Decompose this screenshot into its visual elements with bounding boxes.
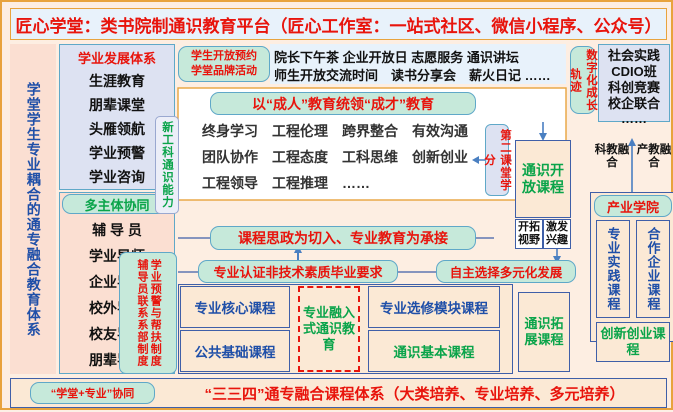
student-booking-line1: 学生开放预约 — [191, 49, 257, 64]
cooperative-enterprise-course[interactable]: 合作企业课程 — [636, 220, 670, 318]
mentor-item-0[interactable]: 辅 导 员 — [62, 217, 172, 242]
mentor-rules-box: 辅导员联系系部制度 学业预警与帮扶制度 — [119, 252, 177, 374]
core-banner: 以“成人”教育统领“成才”教育 — [210, 92, 476, 115]
framework-spine-label: 学堂学生专业耦合的通专融合教育体系 — [24, 82, 42, 337]
framework-spine: 学堂学生专业耦合的通专融合教育体系 — [10, 44, 56, 374]
student-booking-pill[interactable]: 学生开放预约 学堂品牌活动 — [178, 46, 270, 82]
major-practice-course[interactable]: 专业实践课程 — [596, 220, 630, 318]
industry-education-fusion-label: 产教融合 — [636, 142, 672, 172]
practice-item-0[interactable]: 社会实践 — [598, 47, 670, 62]
curriculum-elective-module[interactable]: 专业选修模块课程 — [368, 286, 500, 328]
second-classroom-credits: 第二课堂学分 — [485, 124, 509, 196]
activity-line-1: 院长下午茶 企业开放日 志愿服务 通识讲坛 — [274, 47, 566, 65]
innovation-entrepreneurship-course[interactable]: 创新创业课程 — [596, 322, 670, 362]
general-open-courses[interactable]: 通识开放课程 — [515, 140, 571, 218]
activity-line-2: 师生开放交流时间 读书分享会 薪火日记 …… — [274, 65, 566, 83]
practice-item-2[interactable]: 科创竞赛 — [598, 79, 670, 94]
spark-interest-label: 激发兴趣 — [543, 219, 571, 249]
diagram-canvas: 匠心学堂：类书院制通识教育平台（匠心工作室：一站式社区、微信小程序、公众号） 学… — [0, 0, 673, 410]
curriculum-core-course[interactable]: 专业核心课程 — [180, 286, 290, 328]
footer-title: “三三四”通专融合课程体系（大类培养、专业培养、多元培养） — [167, 378, 662, 408]
science-education-fusion-label: 科教融合 — [594, 142, 630, 172]
major-practice-course-label: 专业实践课程 — [604, 227, 623, 311]
curriculum-public-basic[interactable]: 公共基础课程 — [180, 330, 290, 372]
cooperative-enterprise-course-label: 合作企业课程 — [644, 227, 663, 311]
accreditation-banner: 专业认证非技术素质毕业要求 — [198, 260, 398, 283]
industry-college-title: 产业学院 — [594, 195, 672, 217]
academic-development-title: 学业发展体系 — [64, 47, 170, 67]
core-competency-line-1: 终身学习 工程伦理 跨界整合 有效沟通 — [202, 120, 478, 142]
page-title: 匠心学堂：类书院制通识教育平台（匠心工作室：一站式社区、微信小程序、公众号） — [10, 8, 667, 40]
ideology-banner: 课程思政为切入、专业教育为承接 — [210, 226, 476, 250]
autonomous-development-banner: 自主选择多元化发展 — [436, 260, 576, 283]
academic-item-1[interactable]: 朋辈课堂 — [64, 94, 170, 116]
broaden-horizon-label: 开拓视野 — [515, 219, 543, 249]
new-engineering-literacy-label: 新工科通识能力 — [159, 121, 175, 209]
footer-synergy-pill: “学堂+专业”协同 — [30, 382, 155, 404]
curriculum-fused-general[interactable]: 专业融入式通识教育 — [298, 286, 360, 372]
practice-item-1[interactable]: CDIO班 — [598, 63, 670, 78]
second-classroom-credits-label: 第二课堂学分 — [481, 125, 513, 195]
core-competency-line-2: 团队协作 工程态度 工科思维 创新创业 — [202, 146, 478, 168]
digital-growth-track: 数字化成长轨迹 — [570, 46, 596, 114]
practice-item-4: …… — [598, 111, 670, 126]
curriculum-general-extension[interactable]: 通识拓展课程 — [518, 292, 570, 372]
student-booking-line2: 学堂品牌活动 — [191, 64, 257, 79]
rule-counselor-department: 辅导员联系系部制度 — [135, 259, 148, 367]
core-competency-line-3: 工程领导 工程推理 …… — [202, 172, 478, 194]
digital-growth-track-label: 数字化成长轨迹 — [567, 47, 599, 113]
curriculum-general-basic[interactable]: 通识基本课程 — [368, 330, 500, 372]
practice-item-3[interactable]: 校企联合 — [598, 95, 670, 110]
rule-academic-warning: 学业预警与帮扶制度 — [148, 259, 161, 367]
new-engineering-literacy: 新工科通识能力 — [155, 116, 179, 214]
academic-item-0[interactable]: 生涯教育 — [64, 70, 170, 92]
